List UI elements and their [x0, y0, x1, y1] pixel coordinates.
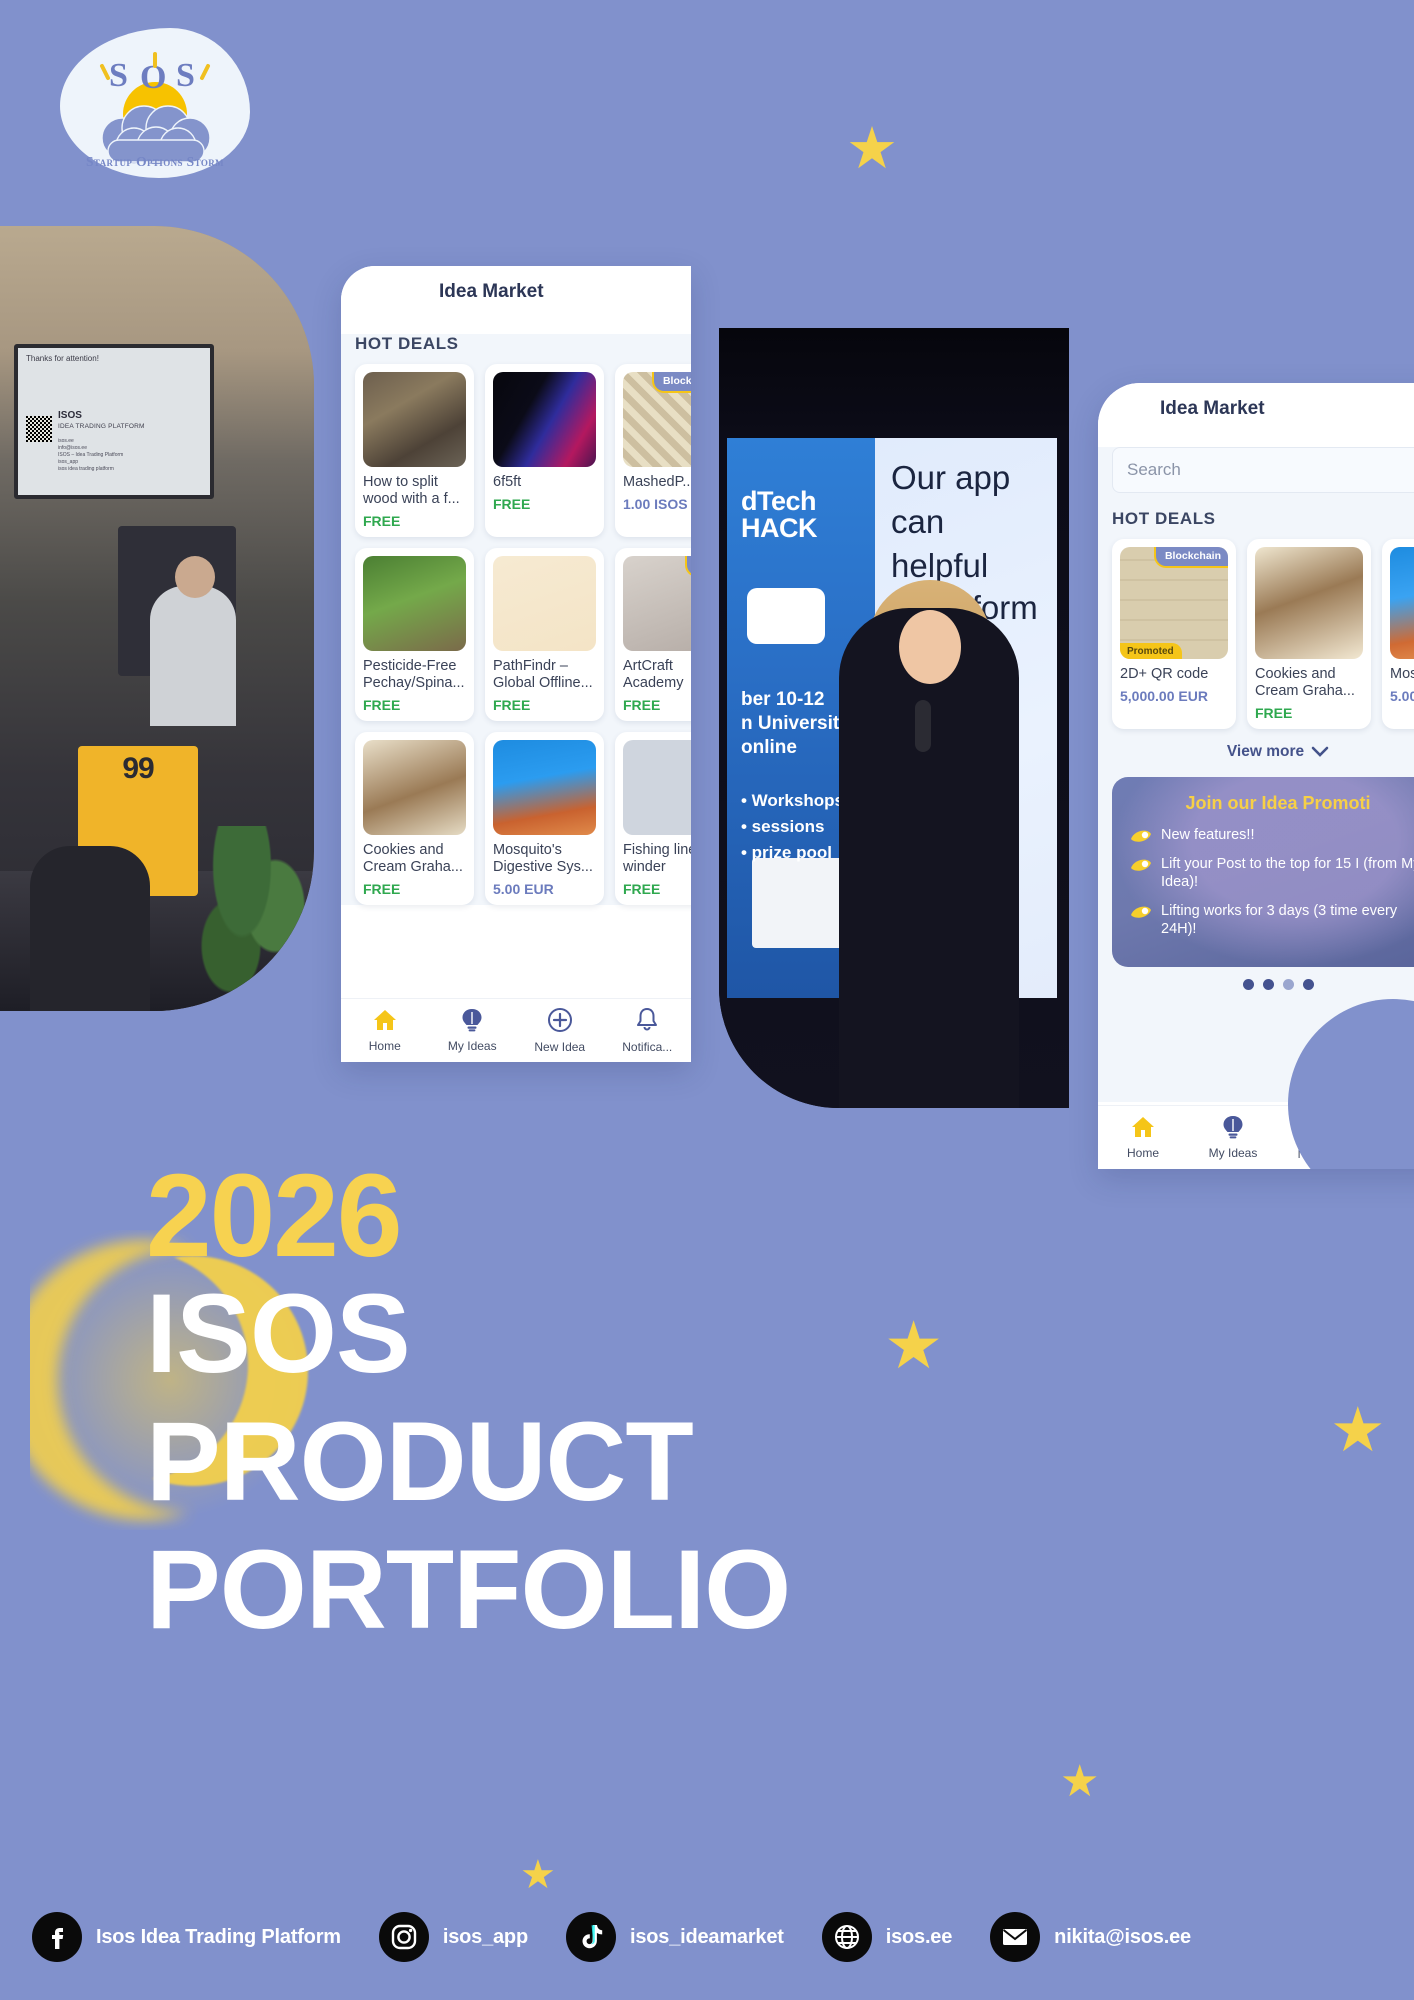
phone1-card-grid: How to split wood with a f...FREE6f5ftFR…	[355, 364, 677, 905]
star-decoration: ★	[1330, 1400, 1386, 1462]
page-title: 2026 ISOS PRODUCT PORTFOLIO	[146, 1162, 790, 1654]
event-date-text: ber 10-12 n University online	[741, 688, 850, 760]
title-line-3: PORTFOLIO	[146, 1526, 790, 1654]
title-line-2: PRODUCT	[146, 1398, 790, 1526]
chick-bullet-icon	[1130, 857, 1152, 873]
idea-card[interactable]: PathFindr – Global Offline...FREE	[485, 548, 604, 721]
idea-card[interactable]: 6f5ftFREE	[485, 364, 604, 537]
footer-item-label: isos.ee	[886, 1926, 952, 1949]
carousel-dot[interactable]	[1303, 979, 1314, 990]
promo-item-text: New features!!	[1161, 826, 1255, 844]
carousel-dots[interactable]	[1112, 979, 1414, 990]
card-thumbnail	[1390, 547, 1414, 659]
title-year: 2026	[146, 1162, 790, 1270]
card-row: Cookies and Cream Graha...FREEMosquito's…	[355, 732, 677, 905]
card-price: FREE	[1255, 705, 1363, 721]
card-price: 5.00 EUR	[493, 881, 596, 897]
phone2-header: Idea Market	[1098, 383, 1414, 435]
nav-item-my-ideas[interactable]: My Ideas	[429, 1008, 517, 1053]
slide-title: ISOS	[58, 410, 82, 421]
nav-item-label: Home	[1098, 1146, 1188, 1160]
event-logo-text: dTech HACK	[741, 488, 875, 542]
promo-item: New features!!	[1130, 826, 1414, 844]
event-list-text: • Workshops • sessions • prize pool	[741, 788, 844, 866]
promo-item: Lift your Post to the top for 15 I (from…	[1130, 855, 1414, 891]
svg-text:S: S	[176, 57, 195, 94]
card-title: Cookies and Cream Graha...	[363, 842, 466, 876]
footer-social-bar: Isos Idea Trading Platformisos_appisos_i…	[0, 1912, 1414, 1962]
title-line-1: ISOS	[146, 1270, 790, 1398]
globe-icon	[833, 1923, 861, 1951]
card-thumbnail: ACC	[623, 556, 691, 651]
tiktok-icon-badge	[566, 1912, 616, 1962]
footer-item-label: isos_ideamarket	[630, 1926, 784, 1949]
promo-heading: Join our Idea Promoti	[1130, 793, 1414, 814]
chevron-down-icon	[1311, 746, 1329, 758]
card-price: FREE	[493, 496, 596, 512]
card-title: Fishing line winder	[623, 842, 691, 876]
phone1-bottom-nav[interactable]: HomeMy IdeasNew IdeaNotifica...	[341, 998, 691, 1062]
footer-item-email[interactable]: nikita@isos.ee	[990, 1912, 1191, 1962]
lightbulb-brain-icon	[459, 1008, 485, 1032]
nav-item-label: My Ideas	[1188, 1146, 1278, 1160]
phone1-body: HOT DEALS How to split wood with a f...F…	[341, 334, 691, 905]
footer-item-globe[interactable]: isos.ee	[822, 1912, 952, 1962]
footer-item-facebook[interactable]: Isos Idea Trading Platform	[32, 1912, 341, 1962]
card-title: Cookies and Cream Graha...	[1255, 666, 1363, 700]
card-price: FREE	[363, 513, 466, 529]
idea-card[interactable]: Pesticide-Free Pechay/Spina...FREE	[355, 548, 474, 721]
nav-item-label: My Ideas	[429, 1039, 517, 1053]
idea-card[interactable]: How to split wood with a f...FREE	[355, 364, 474, 537]
idea-card[interactable]: Cookies and Cream Graha...FREE	[1247, 539, 1371, 729]
carousel-dot[interactable]	[1263, 979, 1274, 990]
email-icon-badge	[990, 1912, 1040, 1962]
slide-top-text: Thanks for attention!	[26, 354, 99, 363]
instagram-icon	[389, 1922, 419, 1952]
card-title: 6f5ft	[493, 474, 596, 491]
promo-item-list: New features!! Lift your Post to the top…	[1130, 826, 1414, 938]
footer-item-label: nikita@isos.ee	[1054, 1926, 1191, 1949]
promo-banner[interactable]: Join our Idea Promoti New features!! Lif…	[1112, 777, 1414, 967]
card-badge: Blockchain	[652, 372, 691, 393]
presentation-screen: Thanks for attention! ISOS IDEA TRADING …	[14, 344, 214, 499]
logo-tagline: Startup Options Storm	[60, 154, 250, 170]
photo-pitch-center: dTech HACK ber 10-12 n University online…	[719, 328, 1069, 1108]
card-title: MashedP...	[623, 474, 691, 491]
card-title: Pesticide-Free Pechay/Spina...	[363, 658, 466, 692]
slide-contact-lines: isos.ee info@isos.ee ISOS – Idea Trading…	[58, 438, 123, 473]
promo-item: Lifting works for 3 days (3 time every 2…	[1130, 902, 1414, 938]
footer-item-instagram[interactable]: isos_app	[379, 1912, 528, 1962]
facebook-icon-badge	[32, 1912, 82, 1962]
footer-item-label: isos_app	[443, 1926, 528, 1949]
card-row: How to split wood with a f...FREE6f5ftFR…	[355, 364, 677, 537]
promo-item-text: Lifting works for 3 days (3 time every 2…	[1161, 902, 1414, 938]
card-thumbnail	[363, 740, 466, 835]
carousel-dot[interactable]	[1243, 979, 1254, 990]
card-title: How to split wood with a f...	[363, 474, 466, 508]
instagram-icon-badge	[379, 1912, 429, 1962]
star-decoration: ★	[846, 120, 898, 178]
card-thumbnail	[493, 740, 596, 835]
brand-logo: S O S Startup Options Storm	[60, 28, 250, 178]
card-thumbnail	[363, 556, 466, 651]
star-decoration: ★	[520, 1855, 556, 1895]
card-price: 5,000.00 EUR	[1120, 688, 1228, 704]
view-more-button[interactable]: View more	[1112, 743, 1414, 761]
chick-bullet-icon	[1130, 828, 1152, 844]
idea-card[interactable]: Fishing line winderFREE	[615, 732, 691, 905]
card-row: Pesticide-Free Pechay/Spina...FREEPathFi…	[355, 548, 677, 721]
globe-icon-badge	[822, 1912, 872, 1962]
card-title: ArtCraft Academy	[623, 658, 691, 692]
nav-item-my-ideas[interactable]: My Ideas	[1188, 1115, 1278, 1160]
idea-card[interactable]: Cookies and Cream Graha...FREE	[355, 732, 474, 905]
facebook-icon	[43, 1923, 71, 1951]
card-badge-promoted: Promoted	[1120, 643, 1182, 659]
phone1-header-title: Idea Market	[439, 281, 544, 303]
nav-item-new-idea[interactable]: New Idea	[516, 1007, 604, 1054]
idea-card[interactable]: Mosquito's Digestive Sys...5.00 EUR	[485, 732, 604, 905]
nav-item-notifica[interactable]: Notifica...	[604, 1007, 692, 1054]
card-badge-blockchain: Blockchain	[1154, 547, 1228, 568]
email-icon	[1000, 1924, 1030, 1950]
phone2-card-row: BlockchainPromoted2D+ QR code5,000.00 EU…	[1112, 539, 1414, 729]
card-price: FREE	[363, 881, 466, 897]
card-title: Mos... Dige...	[1390, 666, 1414, 683]
card-title: Mosquito's Digestive Sys...	[493, 842, 596, 876]
phone1-section-label: HOT DEALS	[355, 334, 677, 354]
card-thumbnail	[363, 372, 466, 467]
idea-card[interactable]: BlockchainMashedP...1.00 ISOS	[615, 364, 691, 537]
presenter-face	[899, 610, 961, 684]
card-title: 2D+ QR code	[1120, 666, 1228, 683]
home-icon	[372, 1008, 398, 1032]
search-placeholder: Search	[1127, 460, 1181, 480]
phone-mockup-idea-market-grid: Idea Market HOT DEALS How to split wood …	[341, 266, 691, 1062]
slide-subtitle: IDEA TRADING PLATFORM	[58, 423, 145, 430]
phone2-header-title: Idea Market	[1160, 398, 1265, 420]
card-price: 5.00	[1390, 688, 1414, 704]
footer-item-label: Isos Idea Trading Platform	[96, 1926, 341, 1949]
bell-icon	[635, 1007, 659, 1033]
idea-card[interactable]: Mos... Dige...5.00	[1382, 539, 1414, 729]
plus-circle-icon	[547, 1007, 573, 1033]
chick-bullet-icon	[1130, 904, 1152, 920]
card-thumbnail: Blockchain	[623, 372, 691, 467]
carousel-dot[interactable]	[1283, 979, 1294, 990]
promo-item-text: Lift your Post to the top for 15 I (from…	[1161, 855, 1414, 891]
idea-card[interactable]: ACCArtCraft AcademyFREE	[615, 548, 691, 721]
card-price: FREE	[363, 697, 466, 713]
lightbulb-brain-icon	[1220, 1115, 1246, 1139]
card-price: FREE	[623, 881, 691, 897]
search-input[interactable]: Search	[1112, 447, 1414, 493]
nav-item-label: New Idea	[516, 1040, 604, 1054]
card-badge: ACC	[685, 556, 691, 577]
card-thumbnail	[1255, 547, 1363, 659]
tiktok-icon	[578, 1923, 604, 1951]
microphone-icon	[915, 700, 931, 752]
plant-decoration	[198, 826, 308, 1011]
idea-card[interactable]: BlockchainPromoted2D+ QR code5,000.00 EU…	[1112, 539, 1236, 729]
nav-item-label: Home	[341, 1039, 429, 1053]
pitch-headline-1-text: Our app can	[891, 459, 1010, 540]
qr-code-icon	[26, 416, 52, 442]
card-thumbnail	[623, 740, 691, 835]
star-decoration: ★	[884, 1312, 943, 1378]
nav-item-label: Notifica...	[604, 1040, 692, 1054]
card-thumbnail	[493, 372, 596, 467]
svg-text:S: S	[109, 57, 128, 94]
sponsor-banner-text: 99	[122, 752, 153, 786]
card-thumbnail: BlockchainPromoted	[1120, 547, 1228, 659]
card-thumbnail	[493, 556, 596, 651]
speaker-person	[150, 586, 236, 726]
star-decoration: ★	[1060, 1760, 1099, 1804]
phone2-section-label: HOT DEALS	[1112, 509, 1414, 529]
footer-item-tiktok[interactable]: isos_ideamarket	[566, 1912, 784, 1962]
phone1-header: Idea Market	[341, 266, 691, 318]
speaker-head	[175, 556, 215, 598]
chat-bubble-icon	[747, 588, 825, 644]
nav-item-home[interactable]: Home	[1098, 1115, 1188, 1160]
photo-conference-left: Thanks for attention! ISOS IDEA TRADING …	[0, 226, 314, 1011]
card-price: 1.00 ISOS	[623, 496, 691, 512]
card-title: PathFindr – Global Offline...	[493, 658, 596, 692]
phone-mockup-idea-market-home: Idea Market Search HOT DEALS BlockchainP…	[1098, 383, 1414, 1169]
card-price: FREE	[623, 697, 691, 713]
nav-item-home[interactable]: Home	[341, 1008, 429, 1053]
audience-person	[30, 846, 150, 1011]
view-more-label: View more	[1227, 743, 1304, 761]
home-icon	[1130, 1115, 1156, 1139]
card-price: FREE	[493, 697, 596, 713]
